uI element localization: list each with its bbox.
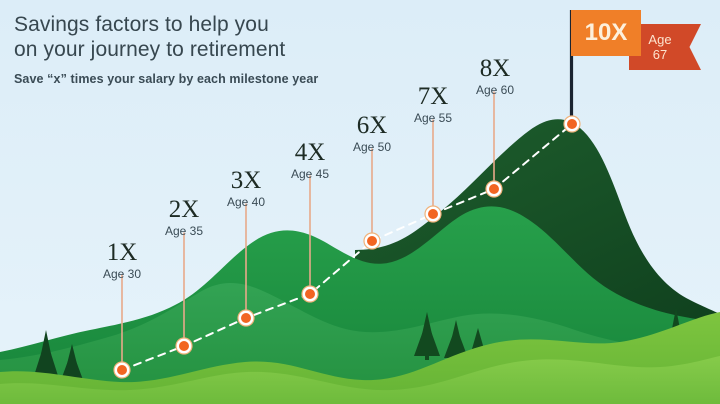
page-title: Savings factors to help you on your jour… [14,12,318,62]
milestone-age: Age 45 [272,167,348,181]
milestone-label-1x: 1X Age 30 [84,240,160,281]
summit-flag: Age 67 10X [571,10,711,72]
milestone-age: Age 50 [334,140,410,154]
milestone-age: Age 55 [395,111,471,125]
milestone-label-8x: 8X Age 60 [457,56,533,97]
page-subtitle: Save “x” times your salary by each miles… [14,72,318,86]
header-block: Savings factors to help you on your jour… [14,12,318,86]
flag-multiplier-text: 10X [585,19,628,47]
milestone-multiplier: 8X [457,56,533,82]
flag-age-text: Age 67 [648,32,681,62]
milestone-age: Age 35 [146,224,222,238]
flag-multiplier-banner: 10X [571,10,641,56]
infographic-canvas: Savings factors to help you on your jour… [0,0,720,404]
milestone-age: Age 60 [457,83,533,97]
milestone-age: Age 30 [84,267,160,281]
milestone-multiplier: 1X [84,240,160,266]
milestone-age: Age 40 [208,195,284,209]
